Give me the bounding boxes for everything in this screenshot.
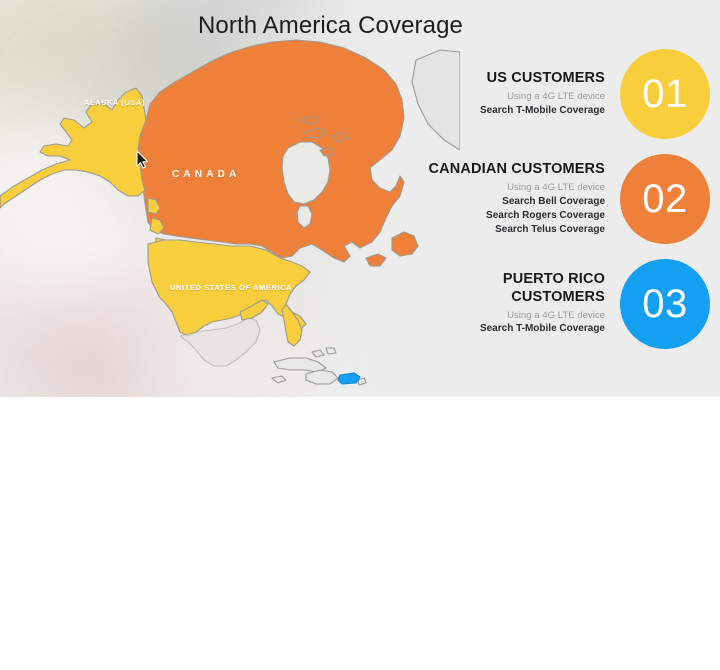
- coverage-item-canada[interactable]: CANADIAN CUSTOMERS Using a 4G LTE device…: [410, 153, 710, 245]
- coverage-item-text: CANADIAN CUSTOMERS Using a 4G LTE device…: [429, 161, 620, 237]
- island-hispaniola: [306, 370, 338, 384]
- island-cuba: [274, 358, 326, 372]
- coverage-item-device-note: Using a 4G LTE device: [429, 181, 605, 195]
- coverage-item-text: US CUSTOMERS Using a 4G LTE device Searc…: [480, 70, 620, 118]
- island-jamaica: [272, 376, 286, 383]
- coverage-slide: ALASKA (USA) CANADA UNITED STATES OF AME…: [0, 0, 720, 397]
- coverage-item-action[interactable]: Search Telus Coverage: [429, 223, 605, 237]
- coverage-item-badge: 03: [620, 259, 710, 349]
- page-whitespace: [0, 397, 720, 670]
- region-florida: [282, 304, 302, 346]
- coverage-item-text: PUERTO RICO CUSTOMERS Using a 4G LTE dev…: [480, 271, 620, 336]
- coverage-item-badge: 01: [620, 49, 710, 139]
- island-bahamas-2: [326, 348, 336, 354]
- coverage-item-title: US CUSTOMERS: [480, 70, 605, 87]
- coverage-item-us[interactable]: US CUSTOMERS Using a 4G LTE device Searc…: [410, 48, 710, 140]
- coverage-item-action[interactable]: Search T-Mobile Coverage: [480, 322, 605, 336]
- region-canada: [138, 40, 404, 262]
- coverage-item-action[interactable]: Search Rogers Coverage: [429, 209, 605, 223]
- coverage-item-badge: 02: [620, 154, 710, 244]
- coverage-item-device-note: Using a 4G LTE device: [480, 90, 605, 104]
- coverage-item-title: CANADIAN CUSTOMERS: [429, 161, 605, 178]
- nova-scotia: [366, 254, 386, 266]
- page-title: North America Coverage: [198, 12, 463, 40]
- region-puerto-rico: [338, 373, 360, 384]
- coverage-item-action[interactable]: Search Bell Coverage: [429, 195, 605, 209]
- coverage-item-title-line1: PUERTO RICO: [480, 271, 605, 288]
- region-alaska: [0, 88, 146, 208]
- north-america-map[interactable]: [0, 0, 460, 397]
- coverage-item-device-note: Using a 4G LTE device: [480, 309, 605, 323]
- coverage-item-action[interactable]: Search T-Mobile Coverage: [480, 104, 605, 118]
- island-bahamas: [312, 350, 324, 357]
- coverage-item-title-line2: CUSTOMERS: [480, 289, 605, 306]
- coverage-item-puerto-rico[interactable]: PUERTO RICO CUSTOMERS Using a 4G LTE dev…: [410, 258, 710, 350]
